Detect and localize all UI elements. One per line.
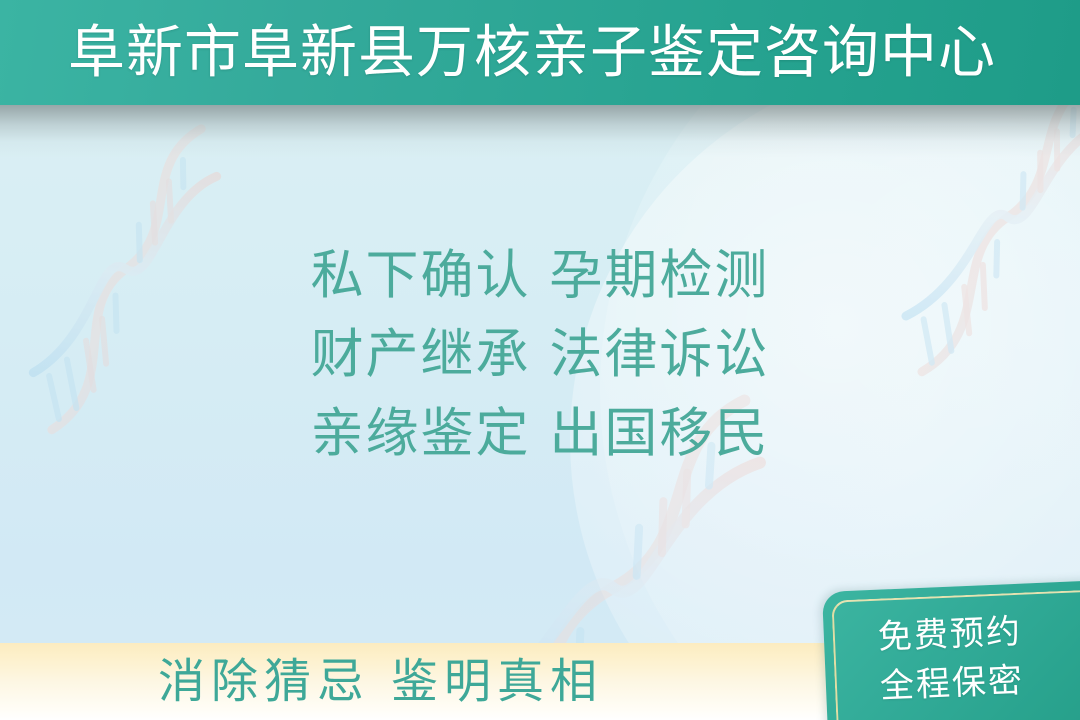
promo-line-2: 全程保密 [879,653,1080,712]
header-shadow [0,105,1080,157]
promo-line-1: 免费预约 [877,604,1080,663]
service-line-2: 财产继承 法律诉讼 [0,315,1080,394]
service-line-1: 私下确认 孕期检测 [0,236,1080,315]
service-list: 私下确认 孕期检测 财产继承 法律诉讼 亲缘鉴定 出国移民 [0,236,1080,473]
promo-badge[interactable]: 免费预约 全程保密 [822,579,1080,720]
poster-canvas: 阜新市阜新县万核亲子鉴定咨询中心 私下确认 孕期检测 财产继承 法律诉讼 亲缘鉴… [0,0,1080,720]
slogan-text: 消除猜忌 鉴明真相 [158,658,603,705]
service-line-3: 亲缘鉴定 出国移民 [0,394,1080,473]
header-bar: 阜新市阜新县万核亲子鉴定咨询中心 [0,0,1080,105]
page-title: 阜新市阜新县万核亲子鉴定咨询中心 [68,24,996,81]
